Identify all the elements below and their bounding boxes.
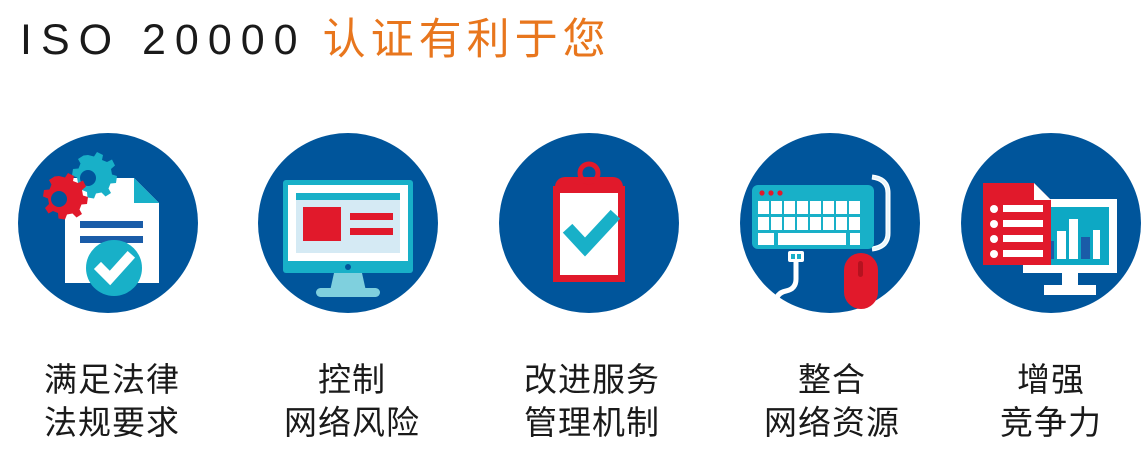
- benefit-label-3-line1: 改进服务: [472, 358, 712, 401]
- benefit-label-1: 满足法律 法规要求: [0, 358, 232, 444]
- benefit-icon-row: [0, 133, 1146, 315]
- report-monitor-chart-icon: [961, 133, 1141, 313]
- keyboard-mouse-icon: [740, 133, 920, 313]
- benefit-label-2: 控制 网络风险: [232, 358, 472, 444]
- benefit-label-4: 整合 网络资源: [712, 358, 952, 444]
- benefit-item-4: [740, 133, 920, 313]
- benefit-item-5: [961, 133, 1141, 313]
- document-gears-check-icon: [18, 133, 198, 313]
- benefit-item-2: [258, 133, 438, 313]
- benefit-label-5-line1: 增强: [931, 358, 1146, 401]
- benefit-label-3-line2: 管理机制: [472, 401, 712, 444]
- benefit-label-row: 满足法律 法规要求 控制 网络风险 改进服务 管理机制 整合 网络资源 增强 竞…: [0, 358, 1146, 458]
- benefit-label-3: 改进服务 管理机制: [472, 358, 712, 444]
- monitor-webpage-icon: [258, 133, 438, 313]
- benefit-label-5-line2: 竞争力: [931, 401, 1146, 444]
- benefit-item-1: [18, 133, 198, 313]
- benefit-label-4-line2: 网络资源: [712, 401, 952, 444]
- iso-20000-benefits-infographic: ISO 20000认证有利于您: [0, 0, 1146, 467]
- page-title: ISO 20000认证有利于您: [20, 14, 611, 66]
- benefit-label-2-line1: 控制: [232, 358, 472, 401]
- benefit-item-3: [499, 133, 679, 313]
- benefit-label-1-line2: 法规要求: [0, 401, 232, 444]
- title-tagline: 认证有利于您: [323, 15, 611, 65]
- clipboard-check-icon: [499, 133, 679, 313]
- benefit-label-5: 增强 竞争力: [931, 358, 1146, 444]
- benefit-label-4-line1: 整合: [712, 358, 952, 401]
- title-standard-name: ISO 20000: [20, 16, 307, 64]
- benefit-label-1-line1: 满足法律: [0, 358, 232, 401]
- benefit-label-2-line2: 网络风险: [232, 401, 472, 444]
